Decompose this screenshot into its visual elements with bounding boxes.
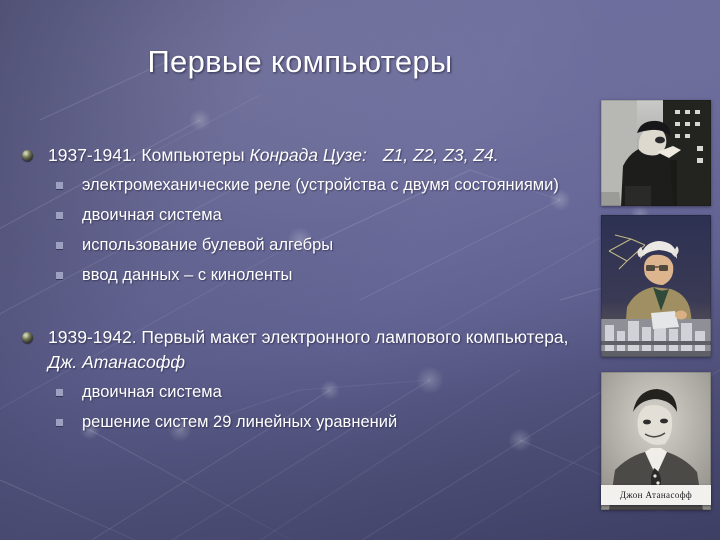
sub-bullet-item: двоичная система [54, 203, 596, 228]
square-bullet-icon [56, 242, 63, 249]
bullet-emphasis-text: Конрада Цузе: [249, 145, 366, 165]
sub-bullet-item: использование булевой алгебры [54, 233, 596, 258]
sub-bullet-label: решение систем 29 линейных уравнений [82, 413, 397, 431]
sub-bullet-list: двоичная система решение систем 29 линей… [18, 380, 596, 435]
sub-bullet-label: двоичная система [82, 383, 222, 401]
bullet-lead-text: 1937-1941. Компьютеры [48, 145, 249, 165]
presentation-slide: Первые компьютеры 1937-1941. Компьютеры … [0, 0, 720, 540]
bullet-tail-text: Z1, Z2, Z3, Z4. [383, 145, 499, 165]
sub-bullet-label: использование булевой алгебры [82, 236, 333, 254]
main-bullet-item: 1939-1942. Первый макет электронного лам… [18, 325, 596, 375]
sub-bullet-item: двоичная система [54, 380, 596, 405]
sub-bullet-label: электромеханические реле (устройства с д… [82, 176, 559, 194]
sub-bullet-item: ввод данных – с киноленты [54, 263, 596, 288]
konrad-zuse-young-photo [601, 100, 711, 206]
slide-body: 1937-1941. Компьютеры Конрада Цузе:Z1, Z… [18, 143, 596, 440]
square-bullet-icon [56, 182, 63, 189]
sub-bullet-label: ввод данных – с киноленты [82, 266, 292, 284]
sphere-bullet-icon [22, 150, 33, 161]
square-bullet-icon [56, 419, 63, 426]
main-bullet-item: 1937-1941. Компьютеры Конрада Цузе:Z1, Z… [18, 143, 596, 168]
sub-bullet-item: решение систем 29 линейных уравнений [54, 410, 596, 435]
sub-bullet-label: двоичная система [82, 206, 222, 224]
bullet-emphasis-text: Дж. Атанасофф [48, 352, 185, 372]
square-bullet-icon [56, 389, 63, 396]
slide-title: Первые компьютеры [0, 44, 600, 80]
sub-bullet-item: электромеханические реле (устройства с д… [54, 173, 596, 198]
square-bullet-icon [56, 272, 63, 279]
konrad-zuse-elderly-photo [601, 215, 711, 357]
atanasoff-photo-caption: Джон Атанасофф [601, 485, 711, 505]
block-spacer [18, 293, 596, 325]
bullet-lead-text: 1939-1942. Первый макет электронного лам… [48, 327, 569, 347]
sphere-bullet-icon [22, 332, 33, 343]
square-bullet-icon [56, 212, 63, 219]
sub-bullet-list: электромеханические реле (устройства с д… [18, 173, 596, 288]
